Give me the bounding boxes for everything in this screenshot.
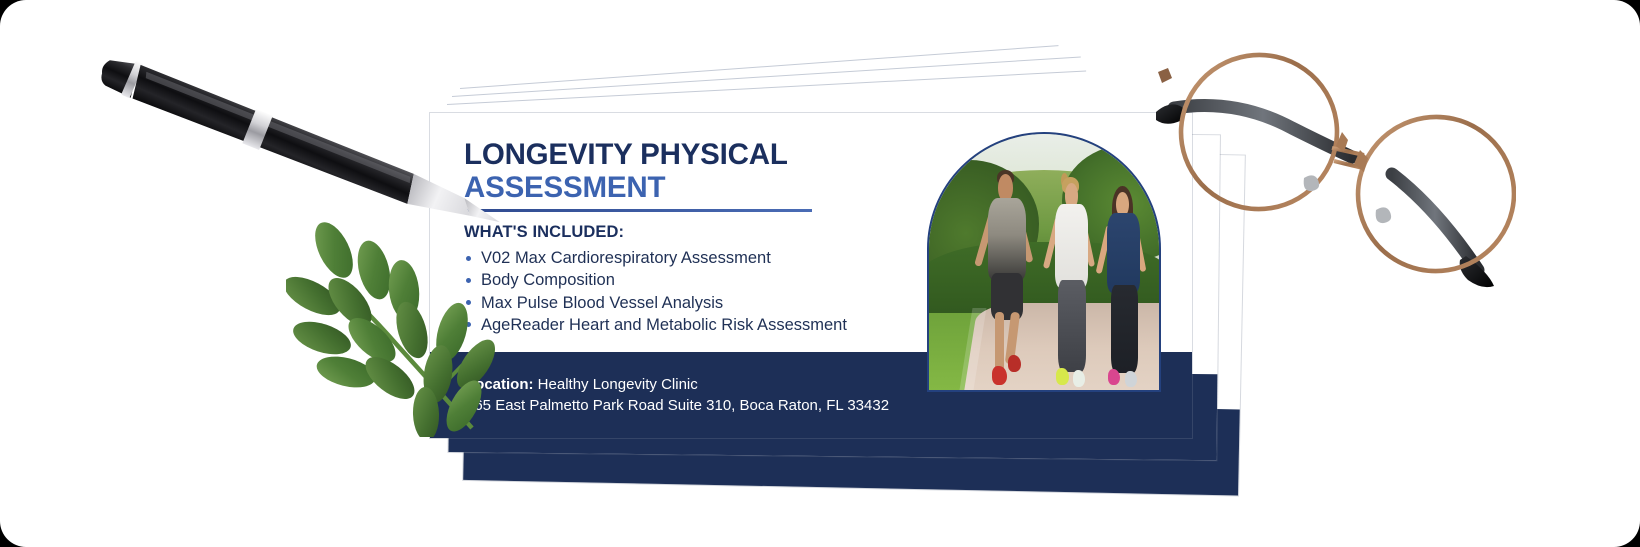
- bullet-icon: [466, 300, 471, 305]
- pen-barrel-highlight: [144, 64, 412, 192]
- runners-photo: [927, 132, 1161, 392]
- pen-cap-ring: [121, 61, 144, 99]
- list-item: Max Pulse Blood Vessel Analysis: [464, 292, 847, 314]
- runner-tights: [1111, 285, 1139, 373]
- list-item: Body Composition: [464, 269, 847, 291]
- glasses-temple-tip-right: [1460, 256, 1494, 287]
- whats-included-heading: WHAT'S INCLUDED:: [464, 223, 624, 242]
- glasses-nose-pad-left: [1304, 175, 1319, 191]
- runner-shoe: [1008, 355, 1021, 372]
- runner-torso: [1107, 213, 1141, 293]
- flyer-scene: LONGEVITY PHYSICAL ASSESSMENT WHAT'S INC…: [0, 0, 1640, 547]
- list-item: AgeReader Heart and Metabolic Risk Asses…: [464, 314, 847, 336]
- list-item-label: Body Composition: [481, 271, 615, 289]
- glasses-bridge-joint-right: [1354, 150, 1368, 172]
- runner-shoe: [1056, 368, 1069, 385]
- glasses-hinge-left: [1158, 68, 1172, 83]
- pen-center-band: [242, 109, 272, 150]
- runner-torso: [1055, 204, 1088, 288]
- plant-leaf: [307, 222, 360, 284]
- plant-leaf: [391, 298, 434, 361]
- bullet-icon: [466, 278, 471, 283]
- list-item-label: AgeReader Heart and Metabolic Risk Asses…: [481, 316, 847, 334]
- location-line: Location: Healthy Longevity Clinic: [466, 374, 889, 395]
- plant-leaf: [359, 349, 422, 407]
- glasses-temple-right: [1392, 174, 1478, 270]
- location-label: Location:: [466, 376, 534, 393]
- plant-leaf: [341, 310, 403, 370]
- title-line-secondary: ASSESSMENT: [464, 172, 894, 205]
- runner-shoe: [1125, 371, 1137, 387]
- bullet-icon: [466, 322, 471, 327]
- flyer-card: LONGEVITY PHYSICAL ASSESSMENT WHAT'S INC…: [430, 113, 1192, 438]
- list-item: V02 Max Cardiorespiratory Assessment: [464, 247, 847, 269]
- list-item-label: V02 Max Cardiorespiratory Assessment: [481, 249, 771, 267]
- whats-included-list: V02 Max Cardiorespiratory Assessment Bod…: [464, 247, 847, 336]
- plant-leaf: [352, 237, 396, 302]
- plant-leaf: [386, 259, 422, 322]
- title-line-primary: LONGEVITY PHYSICAL: [464, 139, 894, 172]
- page-title: LONGEVITY PHYSICAL ASSESSMENT: [464, 139, 894, 204]
- pen-barrel: [127, 57, 419, 216]
- bullet-icon: [466, 256, 471, 261]
- plant-leaf: [321, 271, 380, 333]
- glasses-nose-pad-right: [1376, 207, 1391, 223]
- glasses-bridge-top: [1332, 148, 1364, 155]
- glasses-rim-right: [1347, 106, 1516, 283]
- photo-runner-man: [977, 170, 1046, 385]
- location-block: Location: Healthy Longevity Clinic 165 E…: [466, 374, 889, 416]
- glasses-bridge-joint-left: [1336, 132, 1348, 152]
- runner-leg: [995, 312, 1004, 372]
- runner-shoe: [1073, 370, 1085, 387]
- plant-leaf: [314, 351, 379, 393]
- title-divider: [464, 209, 812, 212]
- pen-cap-end: [96, 52, 144, 98]
- runner-torso: [988, 198, 1025, 280]
- plant-leaf: [286, 269, 346, 323]
- sheet-edge-line-3: [460, 45, 1059, 89]
- photo-runner-woman-navy: [1097, 180, 1159, 385]
- pen-clip: [144, 67, 217, 111]
- list-item-label: Max Pulse Blood Vessel Analysis: [481, 294, 723, 312]
- plant-leaf: [289, 315, 355, 360]
- runner-tights: [1058, 280, 1086, 372]
- location-value: Healthy Longevity Clinic: [538, 376, 698, 393]
- address-line: 165 East Palmetto Park Road Suite 310, B…: [466, 395, 889, 416]
- runner-shoe: [992, 366, 1006, 385]
- glasses-bridge-bottom: [1334, 161, 1364, 168]
- runners-photo-image: [929, 134, 1159, 390]
